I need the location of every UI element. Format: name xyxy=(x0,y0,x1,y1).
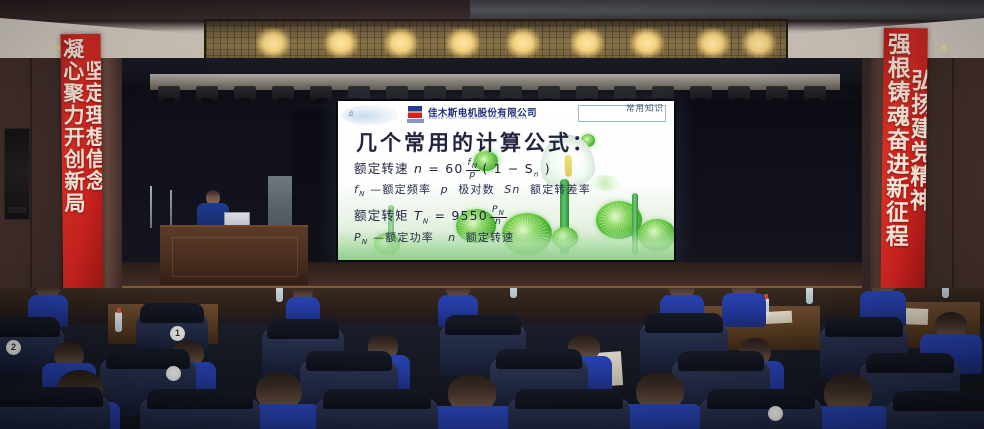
truss-light xyxy=(538,86,560,100)
person-body xyxy=(722,293,766,327)
theater-seat xyxy=(140,398,260,429)
formula-1-denominator: p xyxy=(466,171,481,180)
water-bottle xyxy=(276,288,283,302)
formula-4-symbol: P xyxy=(354,231,362,244)
truss-light xyxy=(462,86,484,100)
water-bottle xyxy=(115,312,122,332)
seat-headrest xyxy=(106,349,190,369)
formula-2-desc4: Sn xyxy=(504,183,520,196)
audience-member xyxy=(430,374,514,429)
water-bottle xyxy=(806,288,813,304)
formula-4-desc2: n xyxy=(448,231,456,244)
left-red-banner: 坚定理想信念 凝心聚力开创新局 xyxy=(61,34,104,320)
truss-light xyxy=(766,86,788,100)
formula-3-var: T xyxy=(414,208,423,223)
formula-4-desc3: 额定转速 xyxy=(466,231,515,244)
beam-lamp xyxy=(742,28,776,58)
stage-side-wall-right xyxy=(676,100,862,262)
seat-number-tag xyxy=(768,406,783,421)
person-body xyxy=(618,404,702,429)
seat-headrest xyxy=(0,387,103,407)
formula-4-desc1: —额定功率 xyxy=(373,231,434,244)
formula-3-fraction: PNn xyxy=(490,206,507,228)
seat-headrest xyxy=(140,303,203,323)
formula-3-denominator: n xyxy=(490,218,507,227)
projection-screen-frame: 佳木斯电机股份有限公司 JIAMUSI ELECTRIC MACHINE COM… xyxy=(336,99,676,262)
formula-2-desc5: 额定转差率 xyxy=(530,183,591,196)
formula-1-tail-end: ) xyxy=(540,161,551,176)
seat-number-tag: 1 xyxy=(170,326,185,341)
seat-headrest xyxy=(445,315,521,335)
formula-1-numerator-sub: N xyxy=(472,162,478,170)
truss-light xyxy=(500,86,522,100)
slide-corner-tag-dot: 点 xyxy=(348,109,354,118)
seat-headrest xyxy=(515,389,622,409)
truss-light xyxy=(652,86,674,100)
truss-light xyxy=(272,86,294,100)
beam-lamp xyxy=(696,28,730,58)
truss-light xyxy=(234,86,256,100)
podium xyxy=(160,225,308,285)
formula-1-coeff: 60 xyxy=(445,161,463,176)
beam-lamp xyxy=(256,28,290,58)
water-bottle xyxy=(510,288,517,298)
company-logo-icon xyxy=(408,106,422,118)
truss-light xyxy=(424,86,446,100)
theater-seat xyxy=(700,398,822,429)
seat-headrest xyxy=(825,317,902,337)
ceiling-downlight xyxy=(938,44,950,51)
truss-light xyxy=(310,86,332,100)
truss-light xyxy=(690,86,712,100)
formula-1-label: 额定转速 xyxy=(354,161,409,176)
theater-seat xyxy=(0,396,110,429)
truss-light xyxy=(728,86,750,100)
seat-headrest xyxy=(267,319,339,339)
seat-headrest xyxy=(306,351,392,371)
microphone-stand xyxy=(170,190,172,228)
left-banner-text: 坚定理想信念 凝心聚力开创新局 xyxy=(61,38,104,214)
formula-2-desc2: p xyxy=(441,183,449,196)
audience-member xyxy=(618,372,702,429)
seat-headrest xyxy=(0,317,60,337)
formula-3-coeff: 9550 xyxy=(451,208,488,223)
right-banner-text: 弘扬建党精神 强根铸魂奋进新征程 xyxy=(881,32,928,249)
seat-number-tag: 2 xyxy=(6,340,21,355)
theater-seat xyxy=(886,400,984,429)
formula-1-eq: = xyxy=(428,161,440,176)
seat-headrest xyxy=(678,351,764,371)
formula-4-symbol-sub: N xyxy=(362,238,368,246)
seat-headrest xyxy=(893,391,984,411)
seat-headrest xyxy=(496,349,582,369)
company-name-en: JIAMUSI ELECTRIC MACHINE COMPANY LIMITED xyxy=(428,116,528,120)
right-red-banner: 弘扬建党精神 强根铸魂奋进新征程 xyxy=(880,28,928,325)
seat-headrest xyxy=(645,313,722,333)
wall-speaker xyxy=(4,128,30,220)
seat-number-tag xyxy=(166,366,181,381)
beam-lamp xyxy=(506,28,540,58)
beam-lamp xyxy=(446,28,480,58)
theater-seat xyxy=(316,398,438,429)
flower-glow xyxy=(590,175,620,191)
formula-2-desc3: 极对数 xyxy=(458,183,495,196)
formula-line-3: 额定转矩 TN = 9550PNn xyxy=(354,205,509,227)
truss-light xyxy=(804,86,826,100)
formula-2-desc1: —额定频率 xyxy=(370,183,431,196)
formula-line-1: 额定转速 n = 60fNp( 1 − Sn ) xyxy=(354,158,551,180)
formula-3-var-sub: N xyxy=(423,218,429,226)
ceiling-upper-right xyxy=(470,0,984,20)
truss-light xyxy=(614,86,636,100)
slide-title: 几个常用的计算公式： xyxy=(356,127,596,157)
slide-corner-tag-label: 常用知识 xyxy=(626,102,664,114)
audience-area: 1 2 xyxy=(0,288,984,429)
seat-headrest xyxy=(147,389,253,409)
beam-lamp xyxy=(384,28,418,58)
formula-3-numerator-sub: N xyxy=(499,209,505,217)
beam-lamp xyxy=(630,28,664,58)
formula-3-label: 额定转矩 xyxy=(354,208,409,223)
lecture-hall-photo: 佳木斯电机股份有限公司 JIAMUSI ELECTRIC MACHINE COM… xyxy=(0,0,984,429)
formula-3-eq: = xyxy=(434,208,446,223)
projection-screen: 佳木斯电机股份有限公司 JIAMUSI ELECTRIC MACHINE COM… xyxy=(338,101,674,260)
truss-light xyxy=(158,86,180,100)
formula-line-4: PN —额定功率 n 额定转速 xyxy=(354,229,514,246)
podium-front-panel xyxy=(172,237,298,277)
seat-headrest xyxy=(707,389,814,409)
audience-member xyxy=(722,288,766,326)
formula-2-symbol-sub: N xyxy=(359,190,365,198)
truss-light xyxy=(196,86,218,100)
water-bottle xyxy=(942,288,949,298)
truss-light xyxy=(386,86,408,100)
seat-headrest xyxy=(866,353,954,373)
formula-line-2: fN —额定频率 p 极对数 Sn 额定转差率 xyxy=(354,181,591,198)
formula-1-var: n xyxy=(414,161,423,176)
ceiling-upper-left xyxy=(0,0,470,20)
microphone-stand xyxy=(150,186,152,228)
theater-seat xyxy=(508,398,630,429)
truss-light xyxy=(348,86,370,100)
beam-lamp xyxy=(324,28,358,58)
formula-1-tail: ( 1 − S xyxy=(482,161,534,176)
person-body xyxy=(430,406,514,429)
seat-headrest xyxy=(323,389,430,409)
formula-3-numerator: P xyxy=(492,205,499,215)
formula-1-fraction: fNp xyxy=(466,159,481,181)
truss-light xyxy=(576,86,598,100)
beam-lamp xyxy=(570,28,604,58)
